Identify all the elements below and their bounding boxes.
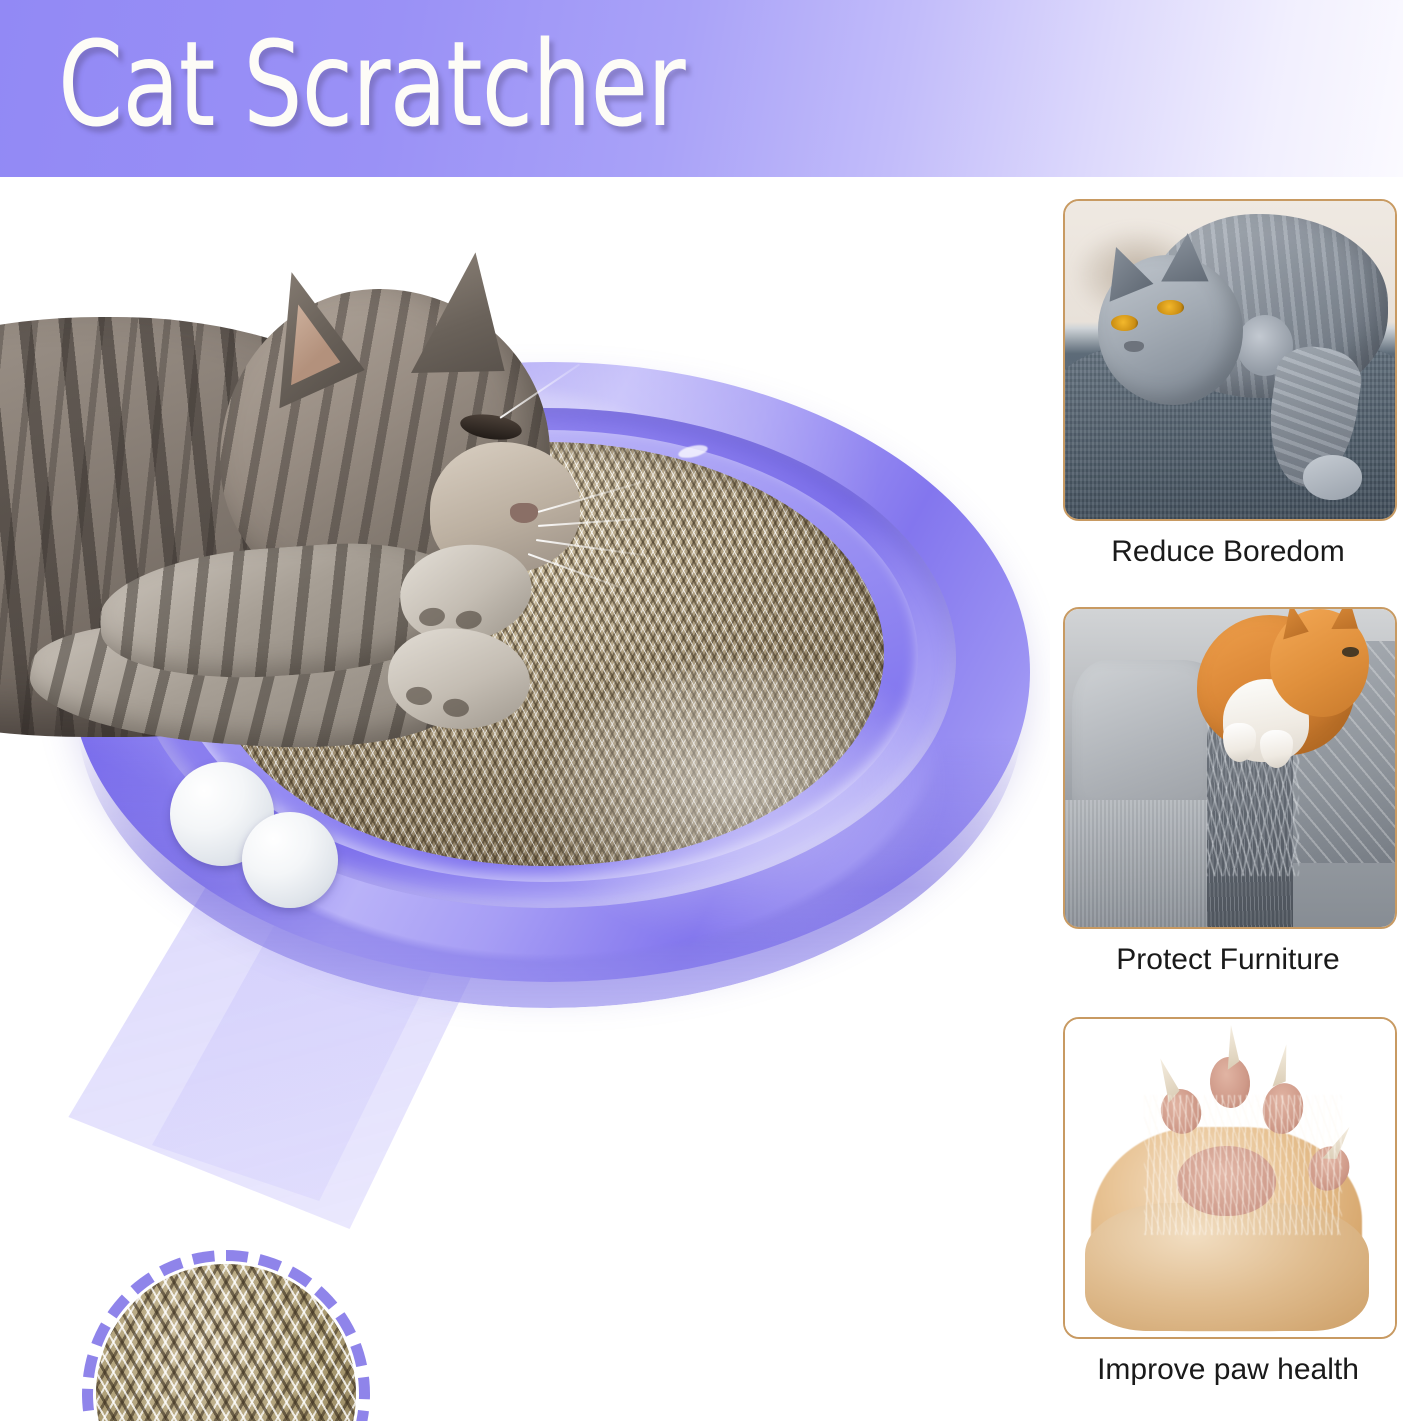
main-product-photo: [0, 177, 1050, 1421]
gray-cat-paw: [1303, 455, 1362, 500]
cat-whisker: [528, 553, 626, 590]
product-listing-image: Cat Scratcher: [0, 0, 1403, 1421]
feature-caption: Protect Furniture: [1063, 943, 1393, 977]
gray-tabby-cat: [0, 257, 630, 817]
feature-caption: Improve paw health: [1063, 1353, 1393, 1387]
gray-cat-right-eye: [1157, 300, 1183, 316]
title-banner: Cat Scratcher: [0, 0, 1403, 177]
feature-image-frame: [1063, 1017, 1397, 1339]
orange-cat-eye: [1342, 647, 1359, 657]
gray-cat-left-eye: [1111, 315, 1137, 331]
track-ball-2: [242, 812, 338, 908]
feature-image-frame: [1063, 607, 1397, 929]
feature-caption: Reduce Boredom: [1063, 535, 1393, 569]
paw-fur-fringe: [1144, 1095, 1342, 1235]
paw-toe: [418, 606, 446, 627]
feature-panel-improve-paw-health: Improve paw health: [1063, 1017, 1393, 1387]
feature-image-frame: [1063, 199, 1397, 521]
feature-panel-protect-furniture: Protect Furniture: [1063, 607, 1393, 977]
cardboard-zoom-circle: [82, 1250, 370, 1421]
paw-toe: [442, 698, 470, 719]
feature-panel-reduce-boredom: Reduce Boredom: [1063, 199, 1393, 569]
page-title: Cat Scratcher: [58, 18, 685, 150]
paw-toe: [455, 609, 483, 630]
cat-nose: [510, 503, 538, 523]
cardboard-zoom-dashed-ring: [82, 1250, 370, 1421]
feature-panel-list: Reduce Boredom Protect Furniture: [1063, 199, 1403, 1409]
paw-toe: [405, 686, 433, 707]
